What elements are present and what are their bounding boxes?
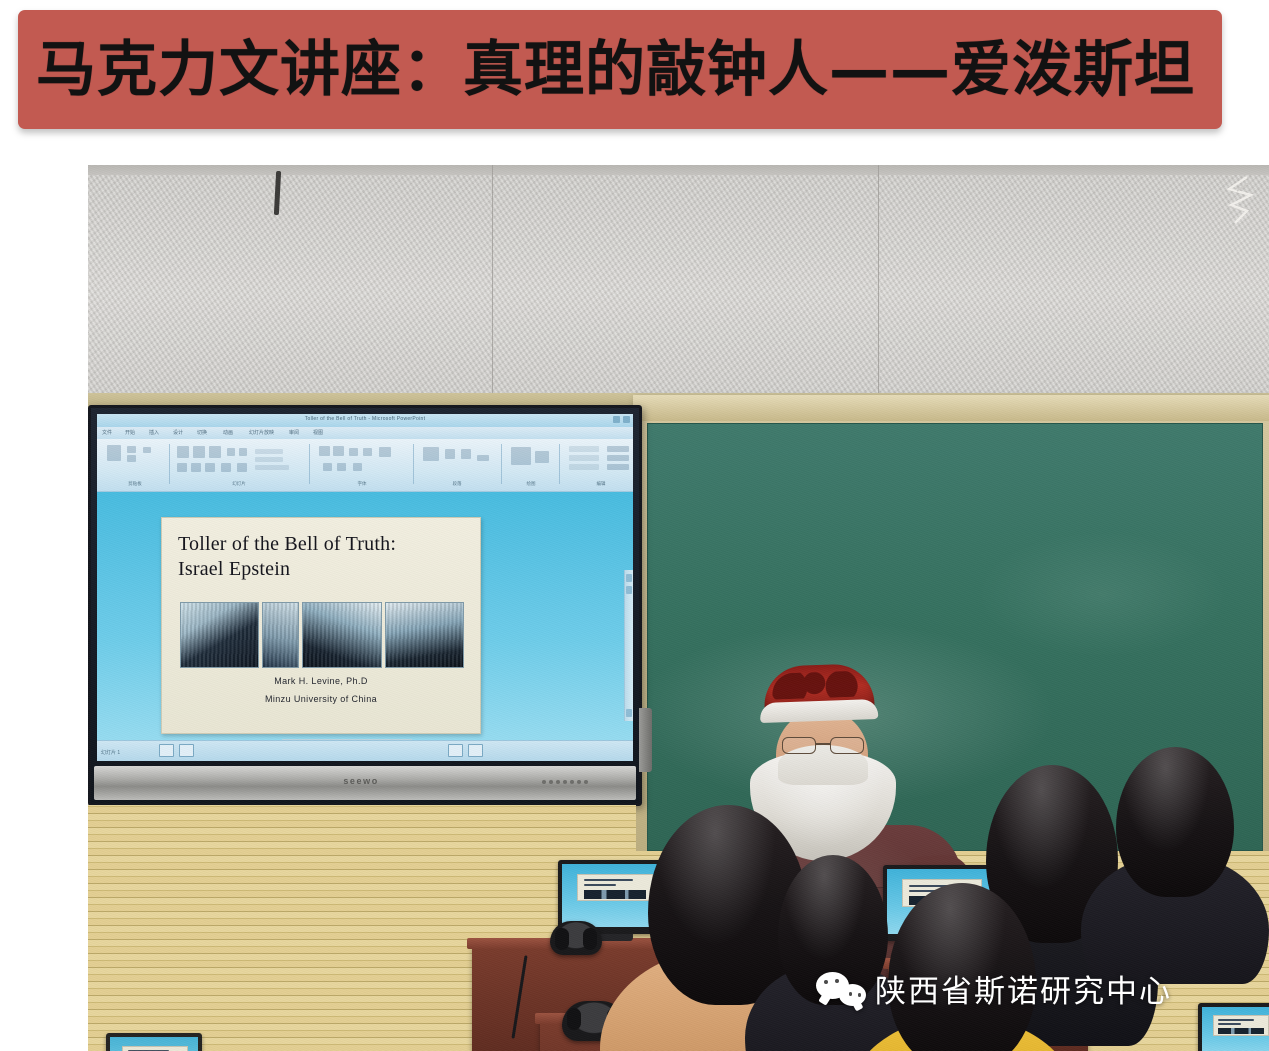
slide-affiliation: Minzu University of China [162,694,480,704]
menu-item-review[interactable]: 审阅 [289,429,299,436]
smartboard[interactable]: Toller of the Bell of Truth - Microsoft … [88,405,642,806]
lecture-photograph: Toller of the Bell of Truth - Microsoft … [88,165,1269,1051]
menu-item-file[interactable]: 文件 [102,429,112,436]
page-title: 马克力文讲座：真理的敲钟人——爱泼斯坦 [18,40,1195,100]
wall-seam [492,165,493,397]
powerpoint-window-title: Toller of the Bell of Truth - Microsoft … [305,416,426,422]
powerpoint-ribbon[interactable]: 剪贴板 幻灯片 [97,439,633,492]
powerpoint-statusbar[interactable]: 幻灯片 1 [97,740,633,761]
smartboard-side-button-panel[interactable] [639,708,652,772]
smartboard-bezel: seewo [94,766,636,800]
lecturer-cap-pattern [772,670,867,699]
slide-photo [385,602,464,668]
ribbon-group-label: 编辑 [597,481,606,487]
view-slideshow-button[interactable] [468,744,483,757]
slide-photo [262,602,299,668]
wall-seam [878,165,879,397]
menu-item-insert[interactable]: 插入 [149,429,159,436]
ribbon-group-drawing[interactable]: 绘图 [507,443,555,487]
slide-presenter: Mark H. Levine, Ph.D [162,676,480,686]
lecturer-cap-band [760,699,879,723]
ceiling-strip [88,165,1269,175]
ribbon-group-label: 段落 [453,481,462,487]
smartboard-brand: seewo [343,776,379,786]
ribbon-group-font[interactable]: 字体 [317,443,407,487]
menu-item-animation[interactable]: 动画 [223,429,233,436]
menu-item-slideshow[interactable]: 幻灯片放映 [249,429,274,436]
view-normal-button[interactable] [159,744,174,757]
headset[interactable] [550,921,602,955]
statusbar-slide-indicator: 幻灯片 1 [101,749,120,756]
ribbon-group-label: 剪贴板 [128,481,142,487]
student-hair [1116,747,1234,897]
student-monitor[interactable] [1198,1003,1269,1051]
powerpoint-slide-stage[interactable]: Toller of the Bell of Truth: Israel Epst… [97,492,633,741]
watermark: 陕西省斯诺研究中心 [816,966,1172,1011]
menu-item-view[interactable]: 视图 [313,429,323,436]
ribbon-group-label: 幻灯片 [232,481,246,487]
slide-photo [180,602,259,668]
page-title-banner: 马克力文讲座：真理的敲钟人——爱泼斯坦 [18,10,1222,129]
ribbon-group-paragraph[interactable]: 段落 [419,443,495,487]
watermark-text: 陕西省斯诺研究中心 [875,966,1172,1011]
menu-item-transition[interactable]: 切换 [197,429,207,436]
view-sorter-button[interactable] [179,744,194,757]
view-reading-button[interactable] [448,744,463,757]
window-controls[interactable] [613,416,630,423]
menu-item-design[interactable]: 设计 [173,429,183,436]
powerpoint-titlebar: Toller of the Bell of Truth - Microsoft … [97,414,633,428]
wechat-logo-icon [816,972,866,1006]
lecturer-glasses-icon [782,737,864,752]
ribbon-group-label: 字体 [358,481,367,487]
classroom-upper-wall [88,165,1269,397]
ribbon-group-editing[interactable]: 编辑 [565,443,633,487]
smartboard-indicator-lights [542,780,588,784]
slide-title-line1: Toller of the Bell of Truth: [178,533,396,555]
ribbon-group-slides[interactable]: 幻灯片 [175,443,303,487]
ribbon-group-clipboard[interactable]: 剪贴板 [103,443,167,487]
slide-photo [302,602,381,668]
student-far-right [1116,747,1234,897]
slide-title-line2: Israel Epstein [178,558,290,580]
ribbon-group-label: 绘图 [527,481,536,487]
chalkboard-frame-top [633,395,1269,421]
slide-title: Toller of the Bell of Truth: Israel Epst… [178,532,468,582]
student-monitor[interactable] [106,1033,202,1051]
smartboard-screen[interactable]: Toller of the Bell of Truth - Microsoft … [97,414,633,761]
vertical-scrollbar[interactable] [624,570,633,721]
slide-photo-strip [180,602,464,668]
wire-squiggle-icon [1217,173,1259,231]
presentation-slide[interactable]: Toller of the Bell of Truth: Israel Epst… [161,517,481,734]
menu-item-home[interactable]: 开始 [125,429,135,436]
